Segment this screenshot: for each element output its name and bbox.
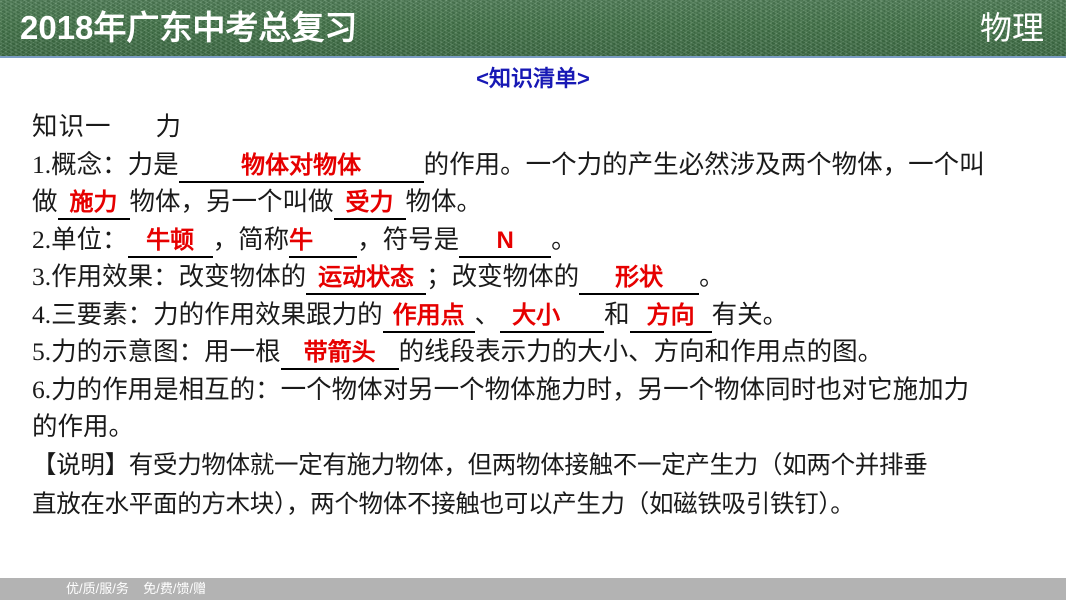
item-6-mutual-line-2: 的作用。	[32, 408, 1052, 446]
item-1b-suffix: 物体。	[406, 187, 483, 216]
item-5-force-diagram-line: 5.力的示意图：用一根带箭头的线段表示力的大小、方向和作用点的图。	[32, 333, 1052, 371]
item-1b-prefix: 做	[32, 187, 58, 216]
item-2-mid-2: ，符号是	[357, 225, 459, 254]
page-footer: 优/质/服/务 免/费/馈/赠	[0, 578, 1066, 600]
blank-acting-body[interactable]: 施力	[58, 185, 130, 220]
header-divider-rule	[0, 56, 1066, 58]
item-5-suffix: 的线段表示力的大小、方向和作用点的图。	[399, 337, 884, 366]
item-3-mid: ；改变物体的	[426, 262, 579, 291]
blank-unit-symbol[interactable]: N	[459, 223, 551, 258]
item-3-suffix: 。	[699, 262, 725, 291]
blank-element-magnitude[interactable]: 大小	[500, 298, 604, 333]
item-2-mid-1: ，简称	[213, 225, 290, 254]
note-line-1: 【说明】有受力物体就一定有施力物体，但两物体接触不一定产生力（如两个并排垂	[32, 446, 1052, 485]
item-4-prefix: 4.三要素：力的作用效果跟力的	[32, 300, 383, 329]
item-5-prefix: 5.力的示意图：用一根	[32, 337, 281, 366]
blank-effect-shape[interactable]: 形状	[579, 260, 699, 295]
blank-effect-motion-state[interactable]: 运动状态	[306, 260, 426, 295]
blank-with-arrow[interactable]: 带箭头	[281, 335, 399, 370]
blank-element-direction[interactable]: 方向	[630, 298, 712, 333]
item-2-unit-line: 2.单位：牛顿，简称牛，符号是N。	[32, 221, 1052, 259]
item-1-prefix: 1.概念：力是	[32, 150, 179, 179]
blank-element-point-of-action[interactable]: 作用点	[383, 298, 475, 333]
header-title: 2018年广东中考总复习	[20, 6, 357, 50]
knowledge-heading-topic: 力	[156, 112, 183, 141]
item-2-suffix: 。	[551, 225, 577, 254]
item-3-prefix: 3.作用效果：改变物体的	[32, 262, 306, 291]
item-4-suffix: 有关。	[712, 300, 789, 329]
blank-unit-short[interactable]: 牛	[289, 223, 357, 258]
item-4-mid-1: 、	[475, 300, 501, 329]
item-1b-mid: 物体，另一个叫做	[130, 187, 334, 216]
item-4-three-elements-line: 4.三要素：力的作用效果跟力的作用点、大小和方向有关。	[32, 296, 1052, 334]
knowledge-heading-label: 知识一	[32, 112, 112, 141]
blank-unit-name[interactable]: 牛顿	[128, 223, 213, 258]
knowledge-heading: 知识一力	[32, 108, 1052, 146]
item-1-concept-line-1: 1.概念：力是物体对物体的作用。一个力的产生必然涉及两个物体，一个叫	[32, 146, 1052, 184]
header-subject-label: 物理	[980, 6, 1044, 50]
item-1-concept-line-2: 做施力物体，另一个叫做受力物体。	[32, 183, 1052, 221]
item-2-prefix: 2.单位：	[32, 225, 128, 254]
knowledge-list-content: 知识一力 1.概念：力是物体对物体的作用。一个力的产生必然涉及两个物体，一个叫 …	[32, 108, 1052, 524]
blank-concept-definition[interactable]: 物体对物体	[179, 148, 424, 183]
item-1-suffix: 的作用。一个力的产生必然涉及两个物体，一个叫	[424, 150, 985, 179]
page-header: 2018年广东中考总复习 物理	[0, 0, 1066, 56]
section-title: <知识清单>	[0, 64, 1066, 94]
footer-slogan: 优/质/服/务 免/费/馈/赠	[66, 578, 206, 600]
note-line-2: 直放在水平面的方木块），两个物体不接触也可以产生力（如磁铁吸引铁钉）。	[32, 485, 1052, 524]
item-6-mutual-line-1: 6.力的作用是相互的：一个物体对另一个物体施力时，另一个物体同时也对它施加力	[32, 371, 1052, 409]
blank-receiving-body[interactable]: 受力	[334, 185, 406, 220]
item-3-effect-line: 3.作用效果：改变物体的运动状态；改变物体的形状。	[32, 258, 1052, 296]
item-4-mid-2: 和	[604, 300, 630, 329]
